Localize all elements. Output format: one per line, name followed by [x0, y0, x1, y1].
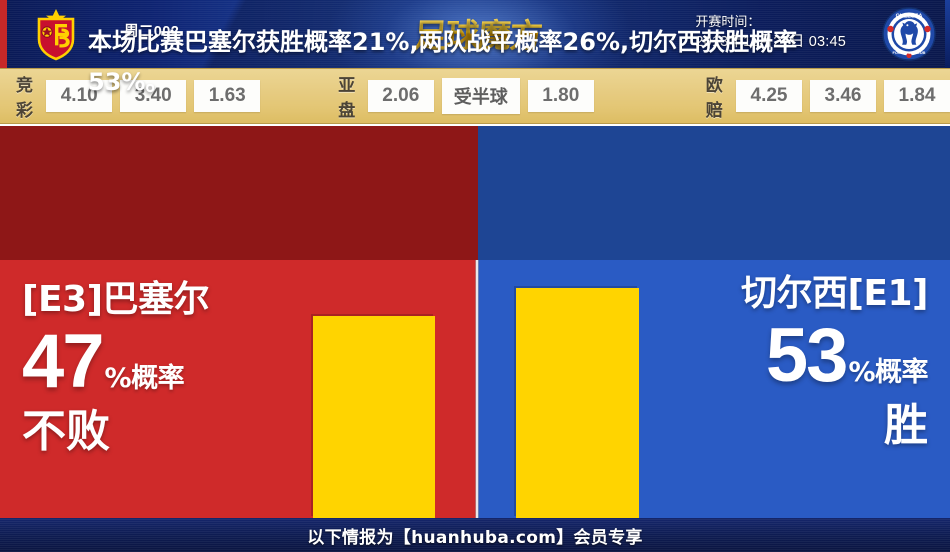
chart-left-panel: [E3]巴塞尔 47 %概率 不败: [0, 260, 478, 518]
home-probability-row: 47 %概率: [22, 322, 209, 402]
footer-membership-notice: 以下情报为【huanhuba.com】会员专享: [307, 523, 642, 548]
chart-right-panel: 切尔西[E1] 53 %概率 胜: [478, 260, 950, 518]
away-probability-unit: %概率: [848, 350, 928, 389]
away-probability-bar: [516, 288, 639, 518]
footer-bar: 以下情报为【huanhuba.com】会员专享: [0, 518, 950, 552]
summary-right-half: [478, 126, 950, 260]
header-left-accent-stripe: [0, 0, 7, 68]
home-probability-bar: [313, 316, 435, 518]
home-outcome-label: 不败: [22, 406, 209, 458]
summary-text: 本场比赛巴塞尔获胜概率21%,两队战平概率26%,切尔西获胜概率53%。: [88, 22, 858, 102]
summary-panel: [0, 126, 950, 260]
home-team-block: [E3]巴塞尔 47 %概率 不败: [22, 278, 209, 458]
chart-center-divider: [475, 260, 479, 518]
match-prediction-screen: 周二002 足球魔方 开赛时间： 2013年11月27日 03:45 CHELS…: [0, 0, 950, 552]
away-probability-row: 53 %概率: [741, 316, 928, 396]
away-team-block: 切尔西[E1] 53 %概率 胜: [741, 272, 928, 452]
chelsea-fc-crest-icon: CHELSEA FOOTBALL CLUB: [882, 7, 936, 61]
odds-group-label: 竞彩: [16, 71, 38, 121]
header-right-accent-stripe: [945, 0, 950, 68]
home-probability-unit: %概率: [105, 356, 185, 395]
svg-text:CHELSEA: CHELSEA: [896, 13, 923, 19]
summary-left-half: [0, 126, 478, 260]
svg-text:FOOTBALL CLUB: FOOTBALL CLUB: [893, 50, 926, 55]
away-team-name: 切尔西[E1]: [741, 272, 928, 316]
basel-fc-crest-icon: [28, 6, 84, 62]
home-probability-value: 47: [22, 322, 103, 402]
away-probability-value: 53: [766, 316, 847, 396]
away-outcome-label: 胜: [741, 400, 928, 452]
odds-cell-away[interactable]: 1.84: [884, 80, 950, 112]
home-team-name: [E3]巴塞尔: [22, 278, 209, 322]
